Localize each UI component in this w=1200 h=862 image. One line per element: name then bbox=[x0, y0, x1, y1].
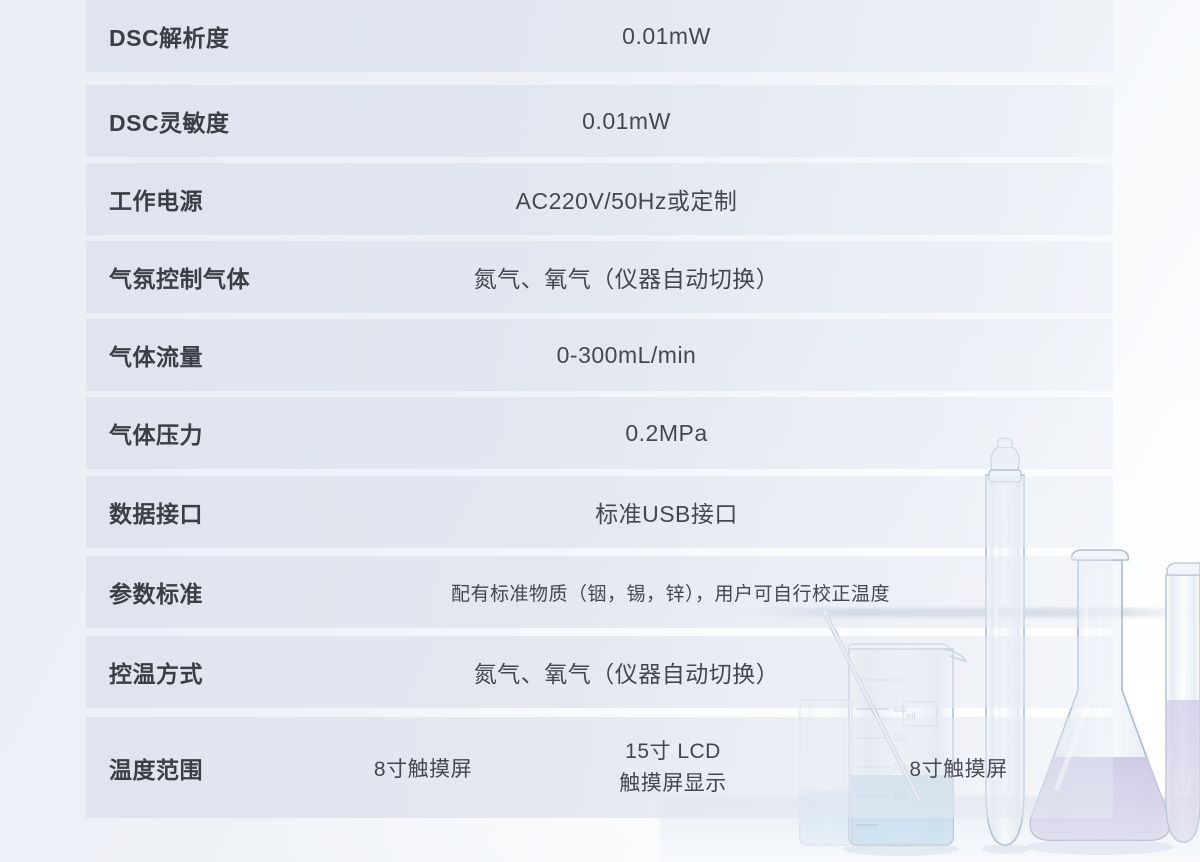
lcd-display-spec: 15寸 LCD 触摸屏显示 bbox=[522, 736, 824, 798]
spec-label: DSC解析度 bbox=[86, 19, 340, 53]
lcd-display-line2: 触摸屏显示 bbox=[522, 768, 824, 799]
spec-label: 温度范围 bbox=[86, 751, 330, 785]
spec-value: AC220V/50Hz或定制 bbox=[340, 182, 1113, 216]
table-row: 气体流量 0-300mL/min bbox=[86, 319, 1113, 391]
table-row: DSC解析度 0.01mW bbox=[86, 0, 1113, 72]
spec-value: 配有标准物质（铟，锡，锌），用户可自行校正温度 bbox=[340, 579, 1113, 606]
specification-table: DSC解析度 0.01mW DSC灵敏度 0.01mW 工作电源 AC220V/… bbox=[86, 0, 1113, 862]
spec-label: 工作电源 bbox=[86, 182, 340, 216]
spec-label: DSC灵敏度 bbox=[86, 104, 340, 138]
spec-label: 气氛控制气体 bbox=[86, 260, 340, 294]
spec-value: 氮气、氧气（仪器自动切换） bbox=[340, 260, 1113, 294]
spec-label: 控温方式 bbox=[86, 655, 340, 689]
table-row: 工作电源 AC220V/50Hz或定制 bbox=[86, 163, 1113, 235]
spec-value: 标准USB接口 bbox=[340, 495, 1113, 529]
touchscreen-8inch-left: 8寸触摸屏 bbox=[330, 753, 516, 783]
spec-value: 0-300mL/min bbox=[340, 342, 1113, 369]
table-row: 数据接口 标准USB接口 bbox=[86, 476, 1113, 548]
spec-value: 氮气、氧气（仪器自动切换） bbox=[340, 655, 1113, 689]
table-row: 参数标准 配有标准物质（铟，锡，锌），用户可自行校正温度 bbox=[86, 556, 1113, 628]
lcd-display-line1: 15寸 LCD bbox=[522, 736, 824, 767]
table-row-temperature-range: 温度范围 8寸触摸屏 15寸 LCD 触摸屏显示 8寸触摸屏 bbox=[86, 717, 1113, 818]
table-row: 控温方式 氮气、氧气（仪器自动切换） bbox=[86, 636, 1113, 708]
spec-value: 0.2MPa bbox=[340, 420, 1113, 447]
spec-label: 数据接口 bbox=[86, 495, 340, 529]
spec-value: 0.01mW bbox=[340, 108, 1113, 135]
spec-label: 参数标准 bbox=[86, 575, 340, 609]
spec-value: 0.01mW bbox=[340, 23, 1113, 50]
table-row: 气氛控制气体 氮气、氧气（仪器自动切换） bbox=[86, 241, 1113, 313]
spec-label: 气体压力 bbox=[86, 416, 340, 450]
table-row: 气体压力 0.2MPa bbox=[86, 397, 1113, 469]
spec-label: 气体流量 bbox=[86, 338, 340, 372]
table-row: DSC灵敏度 0.01mW bbox=[86, 85, 1113, 157]
touchscreen-8inch-right: 8寸触摸屏 bbox=[824, 753, 1113, 783]
